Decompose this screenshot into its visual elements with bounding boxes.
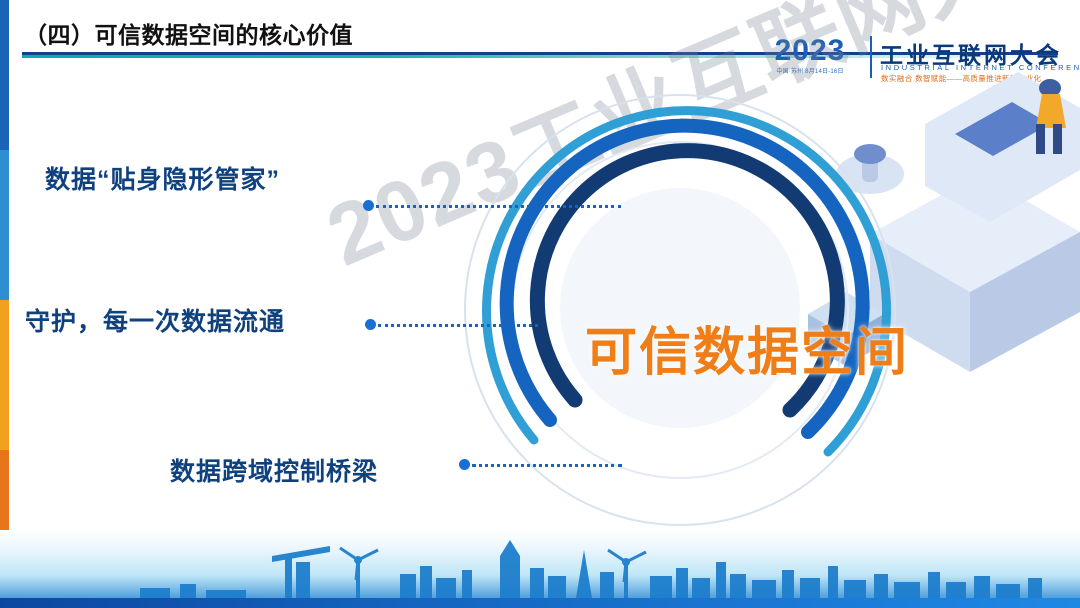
center-label: 可信数据空间	[585, 310, 909, 385]
bullet-item-3: 数据跨域控制桥梁	[170, 452, 378, 488]
bullet-dot-3	[459, 459, 470, 470]
bullet-item-1: 数据“贴身隐形管家”	[45, 160, 280, 196]
bullet-item-2: 守护，每一次数据流通	[25, 302, 285, 338]
slide-canvas: （四）可信数据空间的核心价值 2023 中国·苏州 8月14日-16日 工业互联…	[0, 0, 1080, 608]
bottom-band	[0, 530, 1080, 608]
logo-year: 2023	[754, 34, 866, 68]
bottom-blue-line	[0, 598, 1080, 608]
bullet-leader-1	[376, 205, 621, 208]
bullet-label-2: 守护，每一次数据流通	[25, 308, 285, 336]
bullet-leader-2	[378, 324, 538, 327]
bullet-label-3: 数据跨域控制桥梁	[170, 458, 378, 486]
left-color-strip	[0, 0, 9, 608]
city-skyline	[0, 532, 1080, 598]
bullet-dot-2	[365, 319, 376, 330]
bullet-leader-3	[472, 464, 622, 467]
bullet-dot-1	[363, 200, 374, 211]
page-title: （四）可信数据空间的核心价值	[24, 16, 353, 50]
bullet-label-1: 数据“贴身隐形管家”	[45, 166, 280, 194]
